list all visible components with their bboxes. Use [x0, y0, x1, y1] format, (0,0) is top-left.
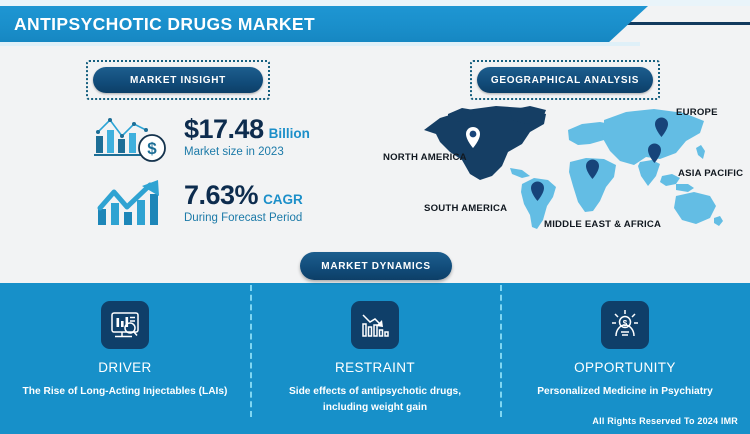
- geographical-analysis-badge: GEOGRAPHICAL ANALYSIS: [470, 60, 660, 100]
- dynamics-title-opportunity: OPPORTUNITY: [574, 360, 676, 375]
- stat-cagr: 7.63% CAGR During Forecast Period: [92, 176, 303, 230]
- dynamics-column-driver: DRIVER The Rise of Long-Acting Injectabl…: [0, 283, 250, 434]
- top-strip: [0, 0, 750, 6]
- stat-cagr-value-line: 7.63% CAGR: [184, 182, 303, 209]
- stat-market-size-value: $17.48: [184, 116, 264, 143]
- header-banner: ANTIPSYCHOTIC DRUGS MARKET: [0, 6, 648, 42]
- geographical-analysis-label: GEOGRAPHICAL ANALYSIS: [491, 75, 639, 86]
- bar-chart-dollar-icon: $: [92, 110, 170, 164]
- stat-market-size-unit: Billion: [269, 126, 310, 141]
- map-label-south-america: SOUTH AMERICA: [424, 203, 507, 214]
- market-insight-label: MARKET INSIGHT: [130, 75, 226, 86]
- map-label-north-america: NORTH AMERICA: [383, 152, 467, 163]
- dynamics-title-restraint: RESTRAINT: [335, 360, 415, 375]
- market-insight-badge: MARKET INSIGHT: [86, 60, 270, 100]
- geographical-analysis-pill: GEOGRAPHICAL ANALYSIS: [477, 67, 653, 93]
- stat-cagr-unit: CAGR: [263, 192, 303, 207]
- dynamics-desc-restraint: Side effects of antipsychotic drugs, inc…: [268, 384, 482, 416]
- stat-market-size-subtitle: Market size in 2023: [184, 146, 310, 158]
- infographic-root: ANTIPSYCHOTIC DRUGS MARKET MARKET INSIGH…: [0, 0, 750, 434]
- market-insight-pill: MARKET INSIGHT: [93, 67, 263, 93]
- map-label-asia-pacific: ASIA PACIFIC: [678, 168, 743, 179]
- dynamics-column-restraint: RESTRAINT Side effects of antipsychotic …: [250, 283, 500, 434]
- stat-market-size: $ $17.48 Billion Market size in 2023: [92, 110, 310, 164]
- declining-chart-icon: [351, 301, 399, 349]
- stat-market-size-text: $17.48 Billion Market size in 2023: [184, 116, 310, 158]
- svg-text:$: $: [147, 139, 157, 158]
- map-label-middle-east-africa: MIDDLE EAST & AFRICA: [544, 219, 661, 230]
- dynamics-title-driver: DRIVER: [98, 360, 151, 375]
- monitor-analytics-icon: [101, 301, 149, 349]
- stat-cagr-value: 7.63%: [184, 182, 258, 209]
- market-dynamics-label: MARKET DYNAMICS: [321, 261, 430, 272]
- lightbulb-dollar-icon: $: [601, 301, 649, 349]
- footer-credit: All Rights Reserved To 2024 IMR: [592, 416, 738, 426]
- stat-cagr-subtitle: During Forecast Period: [184, 212, 303, 224]
- growth-arrow-icon: [92, 176, 170, 230]
- header-underline: [0, 42, 640, 46]
- stat-cagr-text: 7.63% CAGR During Forecast Period: [184, 182, 303, 224]
- dynamics-desc-opportunity: Personalized Medicine in Psychiatry: [537, 384, 713, 400]
- market-dynamics-panel: DRIVER The Rise of Long-Acting Injectabl…: [0, 283, 750, 434]
- dynamics-desc-driver: The Rise of Long-Acting Injectables (LAI…: [23, 384, 228, 400]
- dynamics-column-opportunity: $ OPPORTUNITY Personalized Medicine in P…: [500, 283, 750, 434]
- map-label-europe: EUROPE: [676, 107, 718, 118]
- map-landmass-north-america: [424, 106, 546, 180]
- page-title: ANTIPSYCHOTIC DRUGS MARKET: [0, 14, 315, 35]
- market-dynamics-badge: MARKET DYNAMICS: [300, 252, 452, 280]
- svg-text:$: $: [623, 319, 628, 328]
- stat-market-size-value-line: $17.48 Billion: [184, 116, 310, 143]
